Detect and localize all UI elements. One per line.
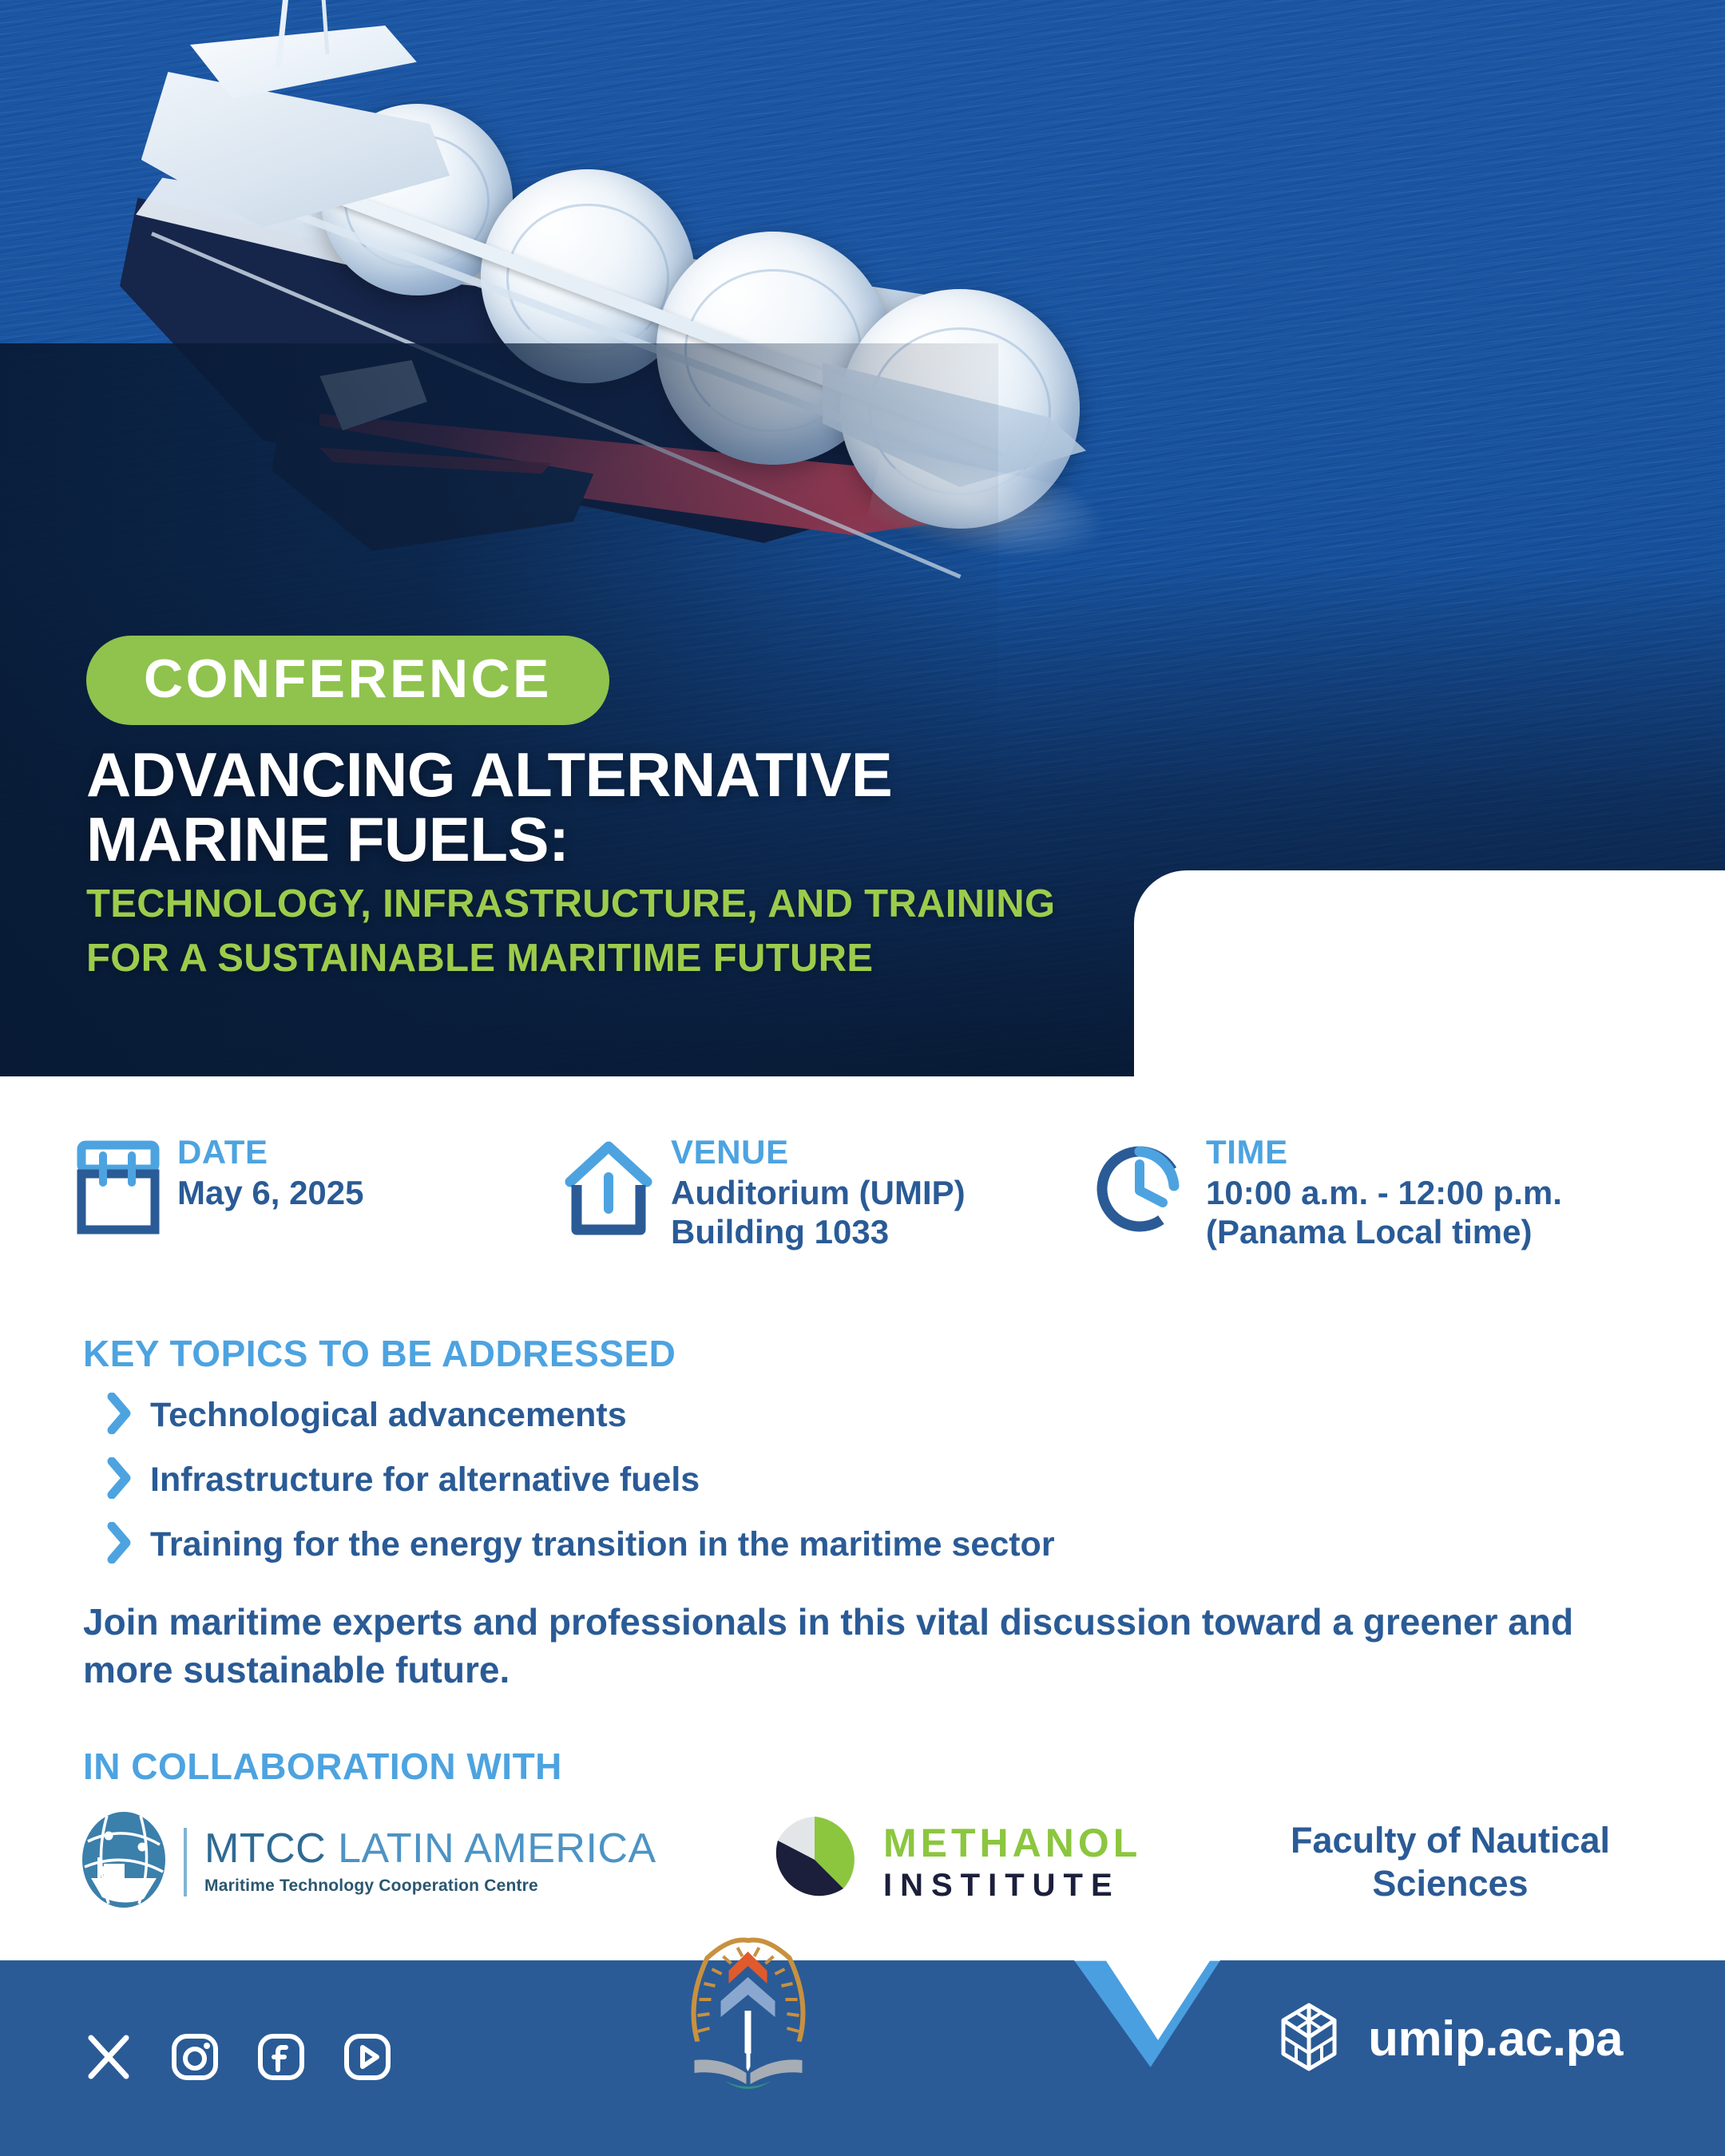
collaboration-logos: MTCC LATIN AMERICA Maritime Technology C… [77, 1809, 1674, 1915]
topic-label: Technological advancements [150, 1397, 627, 1434]
poster-subtitle-line2: FOR A SUSTAINABLE MARITIME FUTURE [86, 937, 1364, 981]
conference-badge: CONFERENCE [86, 636, 609, 725]
key-topics-list: Technological advancements Infrastructur… [83, 1393, 1648, 1567]
logo-divider [184, 1828, 187, 1896]
info-time: TIME 10:00 a.m. - 12:00 p.m. (Panama Loc… [1091, 1135, 1650, 1251]
time-value-line1: 10:00 a.m. - 12:00 p.m. [1206, 1174, 1562, 1213]
faculty-line1: Faculty of Nautical [1275, 1819, 1626, 1861]
event-info-row: DATE May 6, 2025 VENUE Auditorium (UMIP)… [77, 1135, 1674, 1251]
mtcc-tagline: Maritime Technology Cooperation Centre [204, 1877, 656, 1896]
list-item: Training for the energy transition in th… [83, 1522, 1648, 1567]
methanol-secondary-text: INSTITUTE [883, 1869, 1141, 1901]
x-twitter-icon[interactable] [83, 2031, 134, 2083]
key-topics-title: KEY TOPICS TO BE ADDRESSED [83, 1332, 1648, 1375]
chevron-right-icon [107, 1522, 133, 1567]
youtube-icon[interactable] [342, 2031, 393, 2083]
chevron-right-icon [107, 1393, 133, 1438]
social-links [83, 2031, 393, 2083]
date-value: May 6, 2025 [177, 1174, 364, 1213]
instagram-icon[interactable] [169, 2031, 220, 2083]
mtcc-secondary-text: LATIN AMERICA [338, 1825, 656, 1872]
building-icon [564, 1135, 653, 1242]
website-link[interactable]: umip.ac.pa [1277, 2000, 1623, 2078]
poster-title-line2: MARINE FUELS: [86, 807, 1364, 872]
methanol-primary-text: METHANOL [883, 1823, 1141, 1863]
mtcc-primary-text: MTCC [204, 1825, 326, 1872]
date-label: DATE [177, 1135, 364, 1169]
list-item: Technological advancements [83, 1393, 1648, 1438]
topic-label: Training for the energy transition in th… [150, 1526, 1055, 1563]
footer: UMIP umip.ac.pa [0, 1948, 1725, 2156]
time-value-line2: (Panama Local time) [1206, 1213, 1562, 1252]
methanol-circle-icon [763, 1809, 866, 1915]
invitation-paragraph: Join maritime experts and professionals … [83, 1599, 1600, 1694]
topic-label: Infrastructure for alternative fuels [150, 1461, 700, 1499]
calendar-icon [77, 1135, 160, 1239]
list-item: Infrastructure for alternative fuels [83, 1457, 1648, 1503]
umip-crest-icon [663, 1928, 835, 2103]
info-venue: VENUE Auditorium (UMIP) Building 1033 [564, 1135, 1091, 1251]
key-topics-section: KEY TOPICS TO BE ADDRESSED Technological… [83, 1332, 1648, 1587]
poster-title-line1: ADVANCING ALTERNATIVE [86, 743, 1364, 807]
umip-brand: UMIP [663, 1928, 1063, 2103]
info-date: DATE May 6, 2025 [77, 1135, 564, 1239]
collaboration-title: IN COLLABORATION WITH [83, 1745, 562, 1788]
hero-text-block: CONFERENCE ADVANCING ALTERNATIVE MARINE … [86, 636, 1364, 981]
mtcc-globe-icon [77, 1809, 171, 1914]
venue-value-line1: Auditorium (UMIP) [671, 1174, 966, 1213]
poster-subtitle-line1: TECHNOLOGY, INFRASTRUCTURE, AND TRAINING [86, 883, 1364, 926]
venue-label: VENUE [671, 1135, 966, 1169]
faculty-line2: Sciences [1275, 1862, 1626, 1904]
methanol-institute-logo: METHANOL INSTITUTE [763, 1809, 1275, 1915]
venue-value-line2: Building 1033 [671, 1213, 966, 1252]
globe-cube-icon [1277, 2000, 1341, 2078]
umip-wordmark: UMIP [843, 1971, 1063, 2060]
faculty-of-nautical-sciences: Faculty of Nautical Sciences [1275, 1819, 1626, 1904]
conference-poster: CONFERENCE ADVANCING ALTERNATIVE MARINE … [0, 0, 1725, 2156]
facebook-icon[interactable] [256, 2031, 307, 2083]
chevron-right-icon [107, 1457, 133, 1503]
mtcc-latin-america-logo: MTCC LATIN AMERICA Maritime Technology C… [77, 1809, 763, 1914]
website-url: umip.ac.pa [1368, 2011, 1623, 2067]
hero-section: CONFERENCE ADVANCING ALTERNATIVE MARINE … [0, 0, 1725, 1076]
clock-icon [1091, 1135, 1188, 1242]
time-label: TIME [1206, 1135, 1562, 1169]
